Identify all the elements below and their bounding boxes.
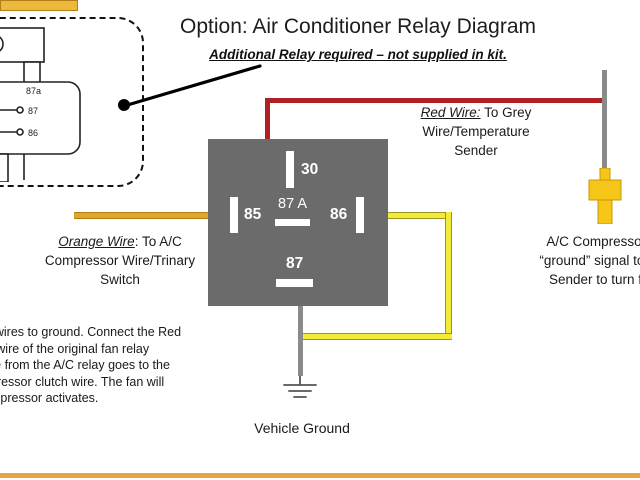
- relay-terminal-bar-87: [276, 279, 313, 287]
- instruction-line-5: hen the A/C compressor activates.: [0, 390, 260, 407]
- instruction-line-1: ellow and Grey wires to ground. Connect …: [0, 324, 260, 341]
- note-compressor-line3: Sender to turn fan: [508, 270, 640, 289]
- instruction-line-2: he sending unit wire of the original fan…: [0, 341, 260, 358]
- note-compressor-line2: “ground” signal to Ter: [508, 251, 640, 270]
- diagram-canvas: 87a 87 86 Option: Air Conditioner Relay …: [0, 0, 640, 480]
- callout-leader-line: [120, 58, 265, 110]
- note-orange-wire-lead: Orange Wire: [58, 234, 134, 249]
- note-red-wire-lead: Red Wire:: [421, 105, 481, 120]
- orange-wire-connector-end: [0, 0, 78, 11]
- yellow-wire-segment-bottom: [298, 333, 452, 340]
- relay-terminal-bar-86: [356, 197, 364, 233]
- relay-terminal-label-87: 87: [286, 255, 303, 273]
- temperature-sender: [583, 168, 627, 224]
- orange-wire-segment: [74, 212, 212, 219]
- ground-symbol: [278, 376, 322, 402]
- note-compressor: A/C Compressor w “ground” signal to Ter …: [508, 232, 640, 289]
- note-orange-wire: Orange Wire: To A/C Compressor Wire/Trin…: [34, 232, 206, 289]
- note-compressor-line1: A/C Compressor w: [508, 232, 640, 251]
- yellow-wire-segment-top: [384, 212, 452, 219]
- relay-terminal-label-85: 85: [244, 206, 261, 224]
- vehicle-ground-label: Vehicle Ground: [232, 420, 372, 436]
- page-subtitle: Additional Relay required – not supplied…: [168, 47, 548, 62]
- page-title: Option: Air Conditioner Relay Diagram: [148, 14, 568, 40]
- grey-sender-wire: [602, 70, 607, 180]
- instruction-paragraph: ellow and Grey wires to ground. Connect …: [0, 324, 260, 407]
- instruction-line-3: The Orange wire from the A/C relay goes …: [0, 357, 260, 374]
- relay-terminal-bar-30: [286, 151, 294, 188]
- yellow-wire-segment-right-riser: [445, 212, 452, 340]
- instruction-line-4: of the A/C compressor clutch wire. The f…: [0, 374, 260, 391]
- relay-terminal-bar-87a: [275, 219, 310, 226]
- relay-terminal-label-87a: 87 A: [278, 196, 307, 212]
- note-red-wire: Red Wire: To Grey Wire/Temperature Sende…: [402, 103, 550, 160]
- relay-terminal-label-86: 86: [330, 206, 347, 224]
- relay-terminal-bar-85: [230, 197, 238, 233]
- relay-body: 30 85 86 87 A 87: [208, 139, 388, 306]
- relay-terminal-label-30: 30: [301, 161, 318, 179]
- bottom-accent-bar: [0, 473, 640, 478]
